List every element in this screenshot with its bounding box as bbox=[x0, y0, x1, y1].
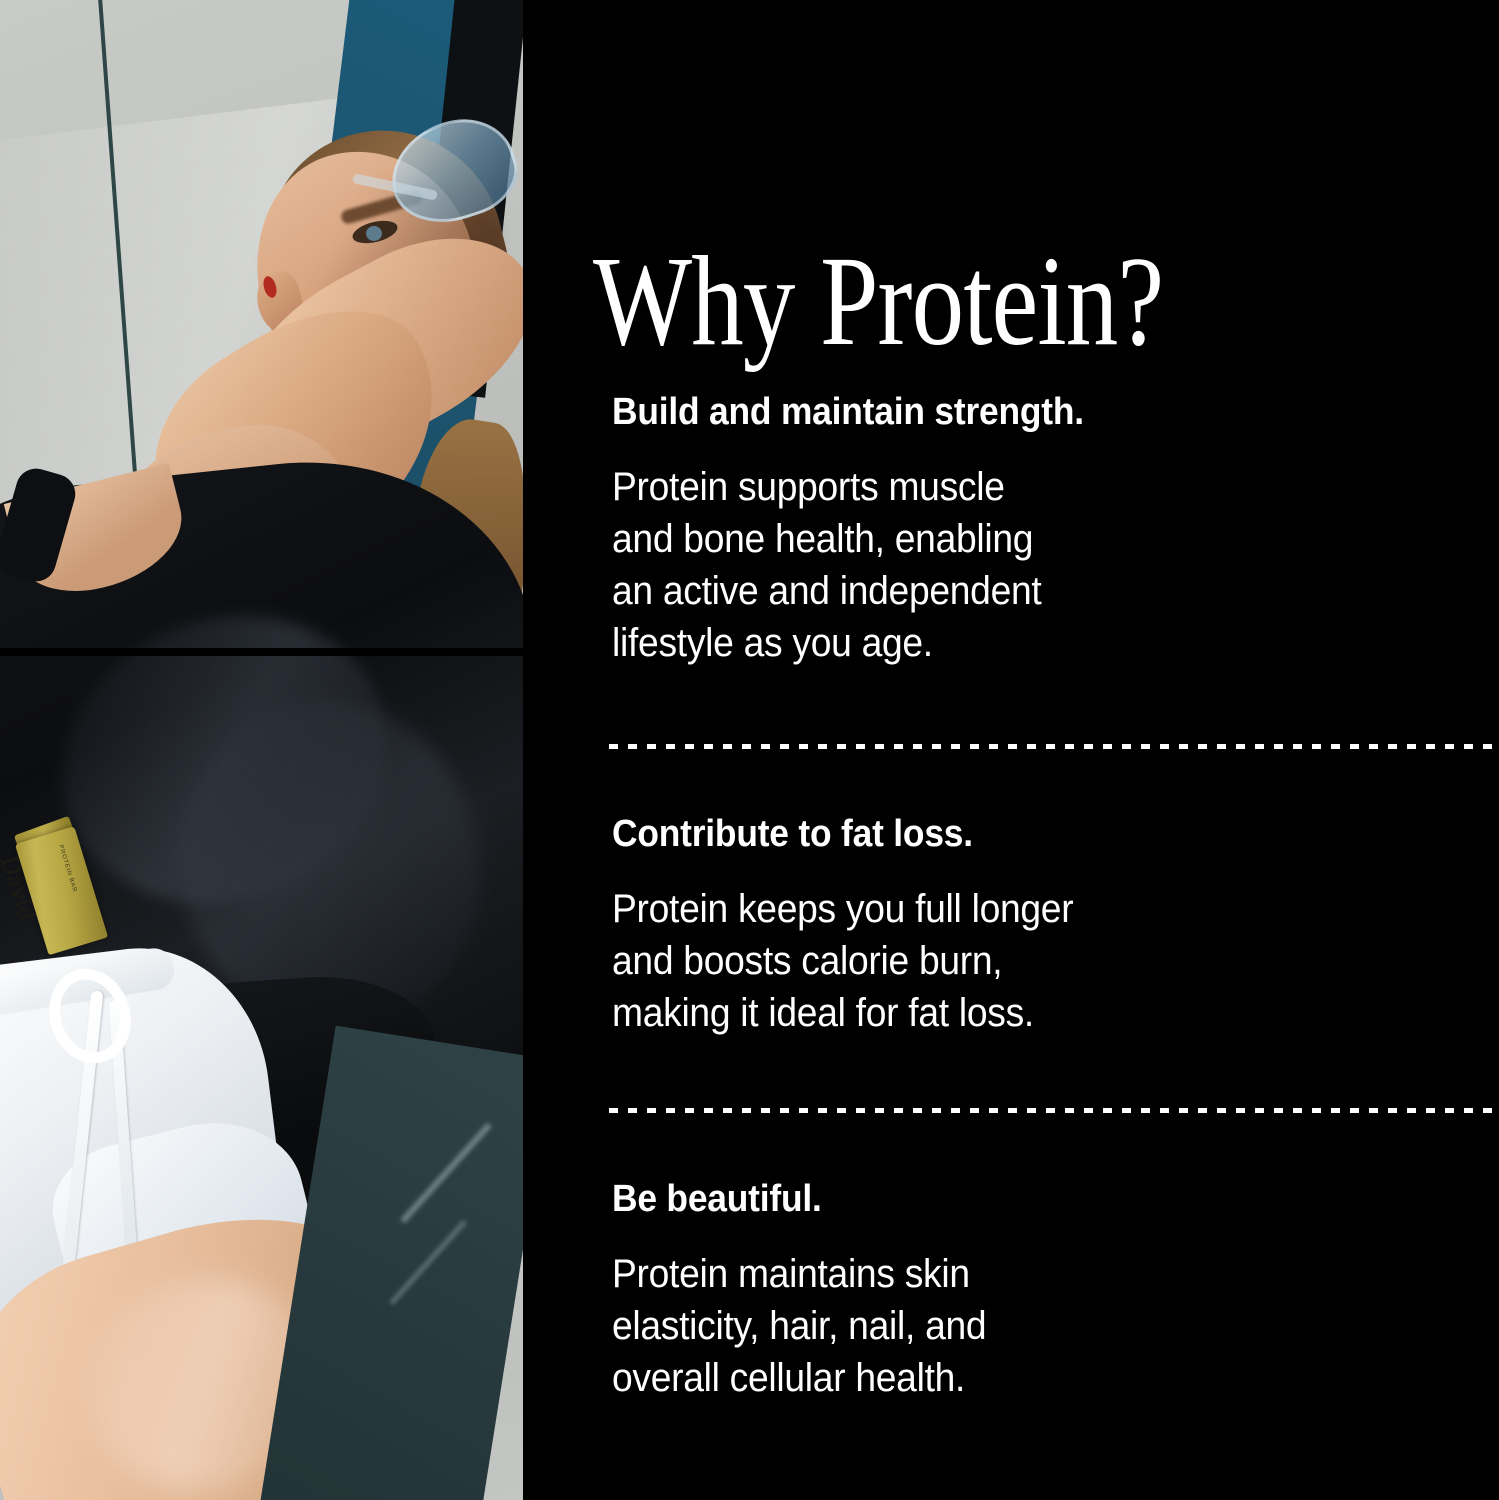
photo-band-divider bbox=[0, 648, 523, 656]
benefit-section-strength: Build and maintain strength. Protein sup… bbox=[612, 390, 1472, 669]
benefit-heading: Contribute to fat loss. bbox=[612, 812, 1412, 857]
why-protein-infographic: David PROTEIN BAR Why Protein? Build and… bbox=[0, 0, 1499, 1500]
iris bbox=[366, 226, 382, 241]
dotted-divider bbox=[609, 744, 1499, 749]
lifestyle-photo: David PROTEIN BAR bbox=[0, 0, 523, 1500]
benefit-heading: Be beautiful. bbox=[612, 1177, 1412, 1222]
benefit-body: Protein maintains skin elasticity, hair,… bbox=[612, 1248, 1412, 1404]
page-title: Why Protein? bbox=[593, 236, 1163, 367]
benefit-body: Protein supports muscle and bone health,… bbox=[612, 461, 1412, 669]
benefit-section-beauty: Be beautiful. Protein maintains skin ela… bbox=[612, 1177, 1472, 1404]
benefit-body: Protein keeps you full longer and boosts… bbox=[612, 883, 1412, 1039]
benefit-section-fat-loss: Contribute to fat loss. Protein keeps yo… bbox=[612, 812, 1472, 1039]
benefit-heading: Build and maintain strength. bbox=[612, 390, 1412, 435]
content-panel: Why Protein? Build and maintain strength… bbox=[523, 0, 1499, 1500]
dotted-divider bbox=[609, 1108, 1499, 1113]
